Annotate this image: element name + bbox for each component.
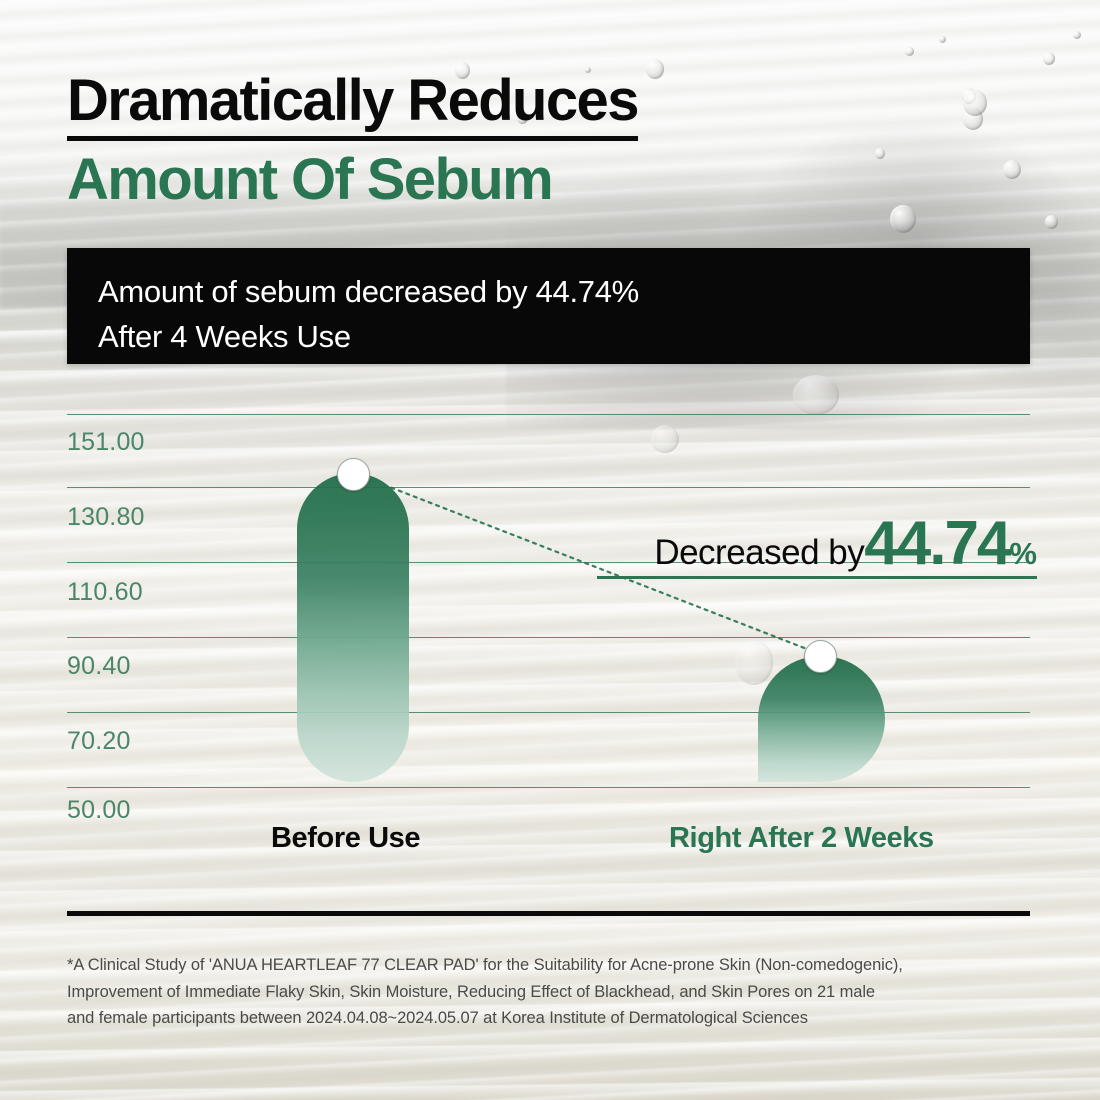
gridline <box>67 787 1030 788</box>
decrease-callout-value: 44.74 <box>864 515 1009 574</box>
bar-before-use <box>297 473 409 782</box>
sebum-bar-chart: 151.00 130.80 110.60 90.40 70.20 50.00 D… <box>0 0 1100 1100</box>
data-point-marker-after <box>804 640 837 673</box>
footnote-line-1: *A Clinical Study of 'ANUA HEARTLEAF 77 … <box>67 952 1052 979</box>
gridline <box>67 712 1030 713</box>
gridline <box>67 414 1030 415</box>
gridline <box>67 487 1030 488</box>
y-axis-tick-label: 70.20 <box>67 727 187 756</box>
y-axis-tick-label: 50.00 <box>67 796 187 825</box>
decrease-callout-unit: % <box>1009 536 1037 572</box>
gridline <box>67 637 1030 638</box>
x-axis-label-before-use: Before Use <box>271 822 420 855</box>
footnote-line-2: Improvement of Immediate Flaky Skin, Ski… <box>67 979 1052 1006</box>
footnote-line-3: and female participants between 2024.04.… <box>67 1005 1052 1032</box>
footnote-block: *A Clinical Study of 'ANUA HEARTLEAF 77 … <box>67 952 1052 1032</box>
divider-rule <box>67 911 1030 916</box>
y-axis-tick-label: 90.40 <box>67 652 187 681</box>
y-axis-tick-label: 130.80 <box>67 503 187 532</box>
data-point-marker-before <box>337 458 370 491</box>
decrease-callout-prefix: Decreased by <box>654 533 864 573</box>
y-axis-tick-label: 151.00 <box>67 428 187 457</box>
bar-right-after-2-weeks <box>758 656 885 782</box>
x-axis-label-right-after-2-weeks: Right After 2 Weeks <box>669 822 934 855</box>
decrease-callout: Decreased by 44.74 % <box>597 515 1037 579</box>
y-axis-tick-label: 110.60 <box>67 578 187 607</box>
